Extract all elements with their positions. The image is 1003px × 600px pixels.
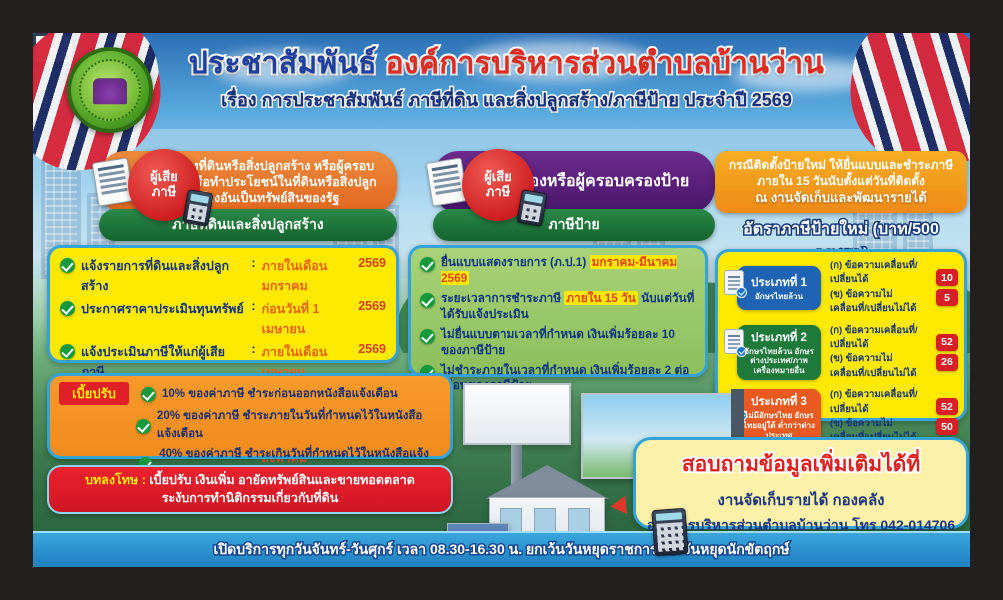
schedule-date: ก่อนวันที่ 1 เมษายน [262, 299, 353, 339]
schedule-year: 2569 [358, 299, 386, 313]
rate-category-row: ประเภทที่ 2อักษรไทยล้วน อักษรต่างประเทศ/… [737, 324, 958, 382]
poster-header: ประชาสัมพันธ์ องค์การบริหารส่วนตำบลบ้านว… [33, 33, 970, 149]
schedule-colon: : [251, 342, 255, 356]
taxpayer-seal-line1: ผู้เสีย [484, 170, 512, 185]
check-badge-icon [736, 287, 747, 298]
rate-item-text: (ข) ข้อความไม่เคลื่อนที่/เปลี่ยนไม่ได้ [830, 288, 927, 317]
rate-value-list: 105 [936, 269, 958, 306]
taxpayer-seal-line2: ภาษี [152, 185, 176, 200]
sign-rule-row: ยื่นแบบแสดงรายการ (ภ.ป.1) มกราคม-มีนาคม … [420, 255, 696, 287]
rate-value: 26 [936, 354, 958, 371]
service-hours-text: เปิดบริการทุกวันจันทร์-วันศุกร์ เวลา 08.… [213, 539, 789, 561]
rate-item-text: (ก) ข้อความเคลื่อนที่/เปลี่ยนได้ [830, 388, 927, 417]
sign-rule-row: ไม่ยื่นแบบตามเวลาที่กำหนด เงินเพิ่มร้อยล… [420, 327, 696, 359]
new-sign-notice: กรณีติดตั้งป้ายใหม่ ให้ยื่นแบบและชำระภาษ… [715, 151, 967, 213]
penalty-row: เบี้ยปรับ20% ของค่าภาษี ชำระภายในวันที่ก… [59, 407, 441, 443]
sign-rate-table: ประเภทที่ 1อักษรไทยล้วน(ก) ข้อความเคลื่อ… [715, 249, 967, 421]
land-schedule-panel: แจ้งรายการที่ดินและสิ่งปลูกสร้าง:ภายในเด… [47, 245, 399, 363]
penalty-text: 20% ของค่าภาษี ชำระภายในวันที่กำหนดไว้ใน… [157, 407, 441, 443]
land-schedule-row: แจ้งรายการที่ดินและสิ่งปลูกสร้าง:ภายในเด… [60, 256, 386, 296]
notice-line1: กรณีติดตั้งป้ายใหม่ ให้ยื่นแบบและชำระภาษ… [723, 157, 959, 173]
rate-category-badge: ประเภทที่ 2อักษรไทยล้วน อักษรต่างประเทศ/… [737, 325, 821, 380]
poster-title-org: องค์การบริหารส่วนตำบลบ้านว่าน [386, 47, 825, 80]
contact-office: งานจัดเก็บรายได้ กองคลัง [646, 488, 956, 512]
sign-rules-rows: ยื่นแบบแสดงรายการ (ภ.ป.1) มกราคม-มีนาคม … [420, 255, 696, 394]
sign-rule-text: ยื่นแบบแสดงรายการ (ภ.ป.1) มกราคม-มีนาคม … [441, 255, 696, 287]
sign-rule-highlight: มกราคม-มีนาคม 2569 [441, 255, 677, 285]
poster-subtitle: เรื่อง การประชาสัมพันธ์ ภาษีที่ดิน และสิ… [163, 85, 850, 114]
taxpayer-seal-line2: ภาษี [486, 185, 510, 200]
check-icon [60, 258, 75, 273]
land-schedule-row: ประกาศราคาประเมินทุนทรัพย์:ก่อนวันที่ 1 … [60, 299, 386, 339]
check-icon [420, 329, 435, 344]
law-line1: เบี้ยปรับ เงินเพิ่ม อายัดทรัพย์สินและขาย… [149, 473, 415, 487]
sign-rules-panel: ยื่นแบบแสดงรายการ (ภ.ป.1) มกราคม-มีนาคม … [408, 245, 708, 377]
sign-rule-highlight: ภายใน 15 วัน [564, 291, 638, 305]
penalty-panel: เบี้ยปรับ10% ของค่าภาษี ชำระก่อนออกหนังส… [47, 373, 453, 459]
rate-table-rows: ประเภทที่ 1อักษรไทยล้วน(ก) ข้อความเคลื่อ… [724, 259, 958, 446]
check-icon [141, 387, 156, 402]
notice-line3: ณ งานจัดเก็บและพัฒนารายได้ [723, 189, 959, 207]
check-icon [420, 293, 435, 308]
rate-item-list: (ก) ข้อความเคลื่อนที่/เปลี่ยนได้(ข) ข้อค… [830, 259, 927, 317]
rate-item-text: (ข) ข้อความไม่เคลื่อนที่/เปลี่ยนไม่ได้ [830, 352, 927, 381]
rate-item-list: (ก) ข้อความเคลื่อนที่/เปลี่ยนได้(ข) ข้อค… [830, 324, 927, 382]
notice-line2: ภายใน 15 วันนับตั้งแต่วันที่ติดตั้ง [723, 173, 959, 189]
rate-value-list: 5250 [936, 398, 958, 435]
rate-category-row: ประเภทที่ 1อักษรไทยล้วน(ก) ข้อความเคลื่อ… [737, 259, 958, 317]
schedule-colon: : [251, 299, 255, 313]
rate-category-badge: ประเภทที่ 1อักษรไทยล้วน [737, 266, 821, 310]
schedule-label: ประกาศราคาประเมินทุนทรัพย์ [81, 299, 245, 319]
check-icon [420, 257, 435, 272]
rate-category-title: ประเภทที่ 1 [751, 274, 807, 292]
schedule-label: แจ้งรายการที่ดินและสิ่งปลูกสร้าง [81, 256, 245, 296]
schedule-colon: : [251, 256, 255, 270]
law-line2: ระงับการทำนิติกรรมเกี่ยวกับที่ดิน [59, 490, 441, 508]
taxpayer-seal-line1: ผู้เสีย [150, 170, 178, 185]
rate-category-title: ประเภทที่ 2 [751, 329, 807, 347]
rate-value: 50 [936, 418, 958, 435]
contact-heading: สอบถามข้อมูลเพิ่มเติมได้ที่ [646, 448, 956, 481]
poster-canvas: ประชาสัมพันธ์ องค์การบริหารส่วนตำบลบ้านว… [33, 33, 970, 567]
clipboard-icon [724, 270, 744, 295]
screenshot-root: ประชาสัมพันธ์ องค์การบริหารส่วนตำบลบ้านว… [0, 0, 1003, 600]
check-icon [60, 301, 75, 316]
rate-value-list: 5226 [936, 334, 958, 371]
check-icon [60, 344, 75, 359]
fine-tag: เบี้ยปรับ [59, 382, 129, 405]
rate-value: 52 [936, 334, 958, 351]
rate-category-title: ประเภทที่ 3 [751, 393, 807, 411]
penalty-row: เบี้ยปรับ10% ของค่าภาษี ชำระก่อนออกหนังส… [59, 382, 441, 405]
sign-tax-category-pill: ภาษีป้าย [433, 209, 715, 241]
sign-tax-category-label: ภาษีป้าย [548, 214, 599, 236]
schedule-date: ภายในเดือน มกราคม [262, 256, 353, 296]
sign-rule-text: ระยะเวลาการชำระภาษี ภายใน 15 วัน นับแต่ว… [441, 291, 696, 323]
rate-category-sub: อักษรไทยล้วน อักษรต่างประเทศ/ภาพ เครื่อง… [740, 347, 818, 376]
rate-item-text: (ก) ข้อความเคลื่อนที่/เปลี่ยนได้ [830, 324, 927, 353]
check-icon [136, 419, 151, 434]
schedule-year: 2569 [358, 342, 386, 356]
law-penalty-bar: บทลงโทษ : เบี้ยปรับ เงินเพิ่ม อายัดทรัพย… [47, 465, 453, 514]
penalty-text: 10% ของค่าภาษี ชำระก่อนออกหนังสือแจ้งเตื… [162, 385, 398, 403]
rate-item-text: (ก) ข้อความเคลื่อนที่/เปลี่ยนได้ [830, 259, 927, 288]
law-tag: บทลงโทษ : [85, 473, 146, 487]
rate-value: 52 [936, 398, 958, 415]
rate-value: 5 [936, 289, 958, 306]
title-block: ประชาสัมพันธ์ องค์การบริหารส่วนตำบลบ้านว… [163, 49, 850, 114]
service-hours-bar: เปิดบริการทุกวันจันทร์-วันศุกร์ เวลา 08.… [33, 531, 970, 567]
rate-value: 10 [936, 269, 958, 286]
sign-rule-text: ไม่ยื่นแบบตามเวลาที่กำหนด เงินเพิ่มร้อยล… [441, 327, 696, 359]
schedule-year: 2569 [358, 256, 386, 270]
rate-category-sub: อักษรไทยล้วน [755, 292, 803, 302]
poster-title-primary: ประชาสัมพันธ์ [189, 47, 377, 80]
sign-rule-row: ระยะเวลาการชำระภาษี ภายใน 15 วัน นับแต่ว… [420, 291, 696, 323]
organization-emblem [67, 47, 153, 133]
